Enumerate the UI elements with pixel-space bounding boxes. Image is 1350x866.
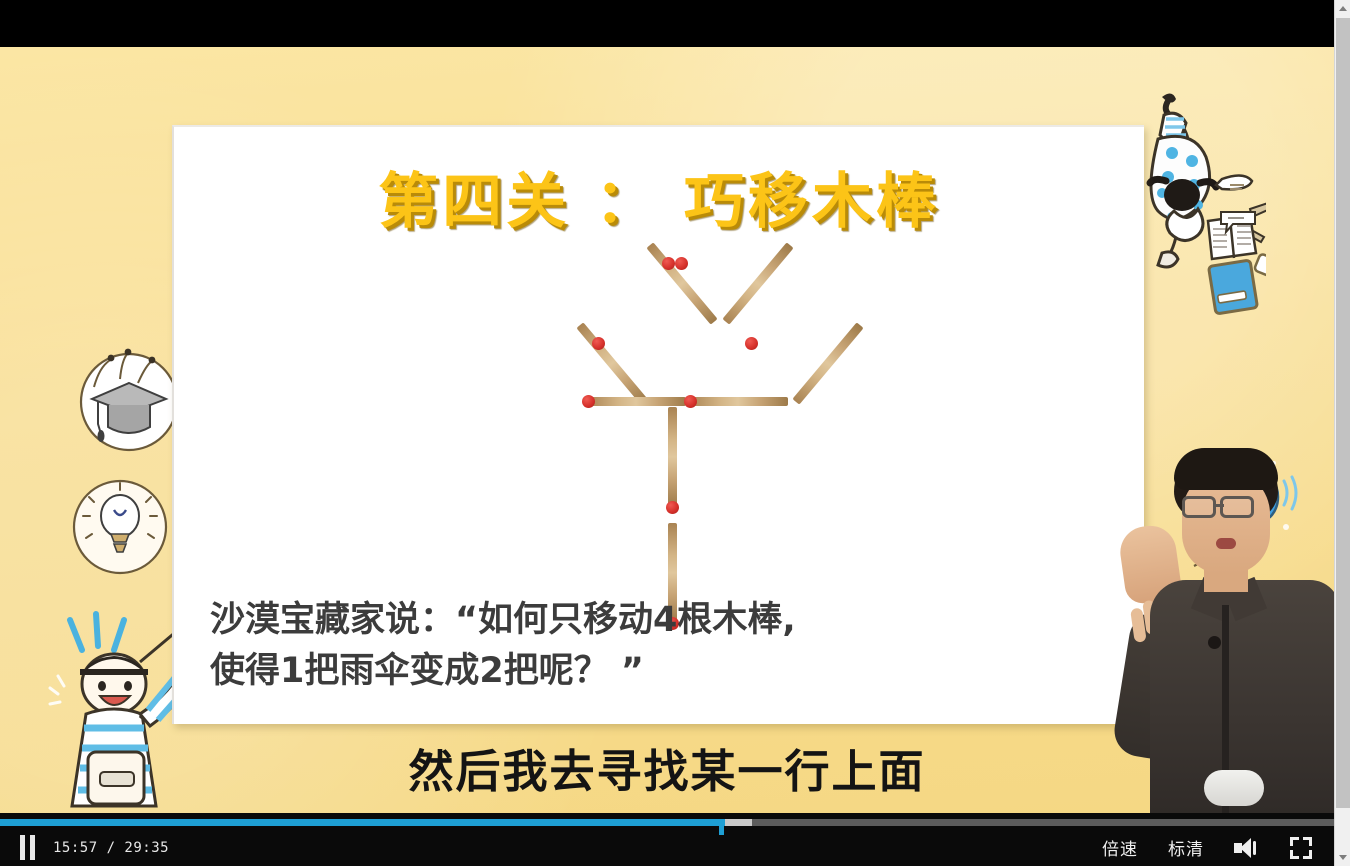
- matchstick-head-handle-upper: [666, 501, 679, 514]
- matchstick-handle-upper: [668, 407, 677, 507]
- lightbulb-doodle: [66, 472, 174, 582]
- progress-bar-played: [0, 819, 725, 826]
- slide-body-text: 沙漠宝藏家说：“如何只移动4根木棒, 使得1把雨伞变成2把呢？ ”: [210, 595, 1124, 697]
- pause-icon[interactable]: [20, 835, 35, 860]
- matchstick-umbrella-figure: [174, 255, 1144, 595]
- matchstick-lower-right: [792, 322, 863, 404]
- player-controls-right: 倍速 标清: [1102, 835, 1312, 860]
- presenter-figure: [1104, 440, 1334, 813]
- handstand-student-doodle: [1146, 87, 1266, 317]
- slide-body-line-1: 沙漠宝藏家说：“如何只移动4根木棒,: [210, 595, 1124, 646]
- presenter-lapel-mic: [1208, 636, 1221, 649]
- player-controls-left: 15:57 / 29:35: [20, 835, 169, 860]
- matchstick-apex-right: [722, 242, 793, 324]
- video-player-page: 第四关 ： 巧移木棒: [0, 0, 1350, 866]
- progress-bar-track[interactable]: [0, 819, 1334, 826]
- quality-button[interactable]: 标清: [1168, 835, 1204, 860]
- matchstick-crossbar-right: [688, 397, 788, 406]
- presenter-glasses-right: [1220, 496, 1254, 518]
- scrollbar-thumb[interactable]: [1336, 18, 1350, 808]
- scroll-down-arrow-icon[interactable]: [1335, 849, 1350, 866]
- speech-bubble-doodle: [1218, 209, 1258, 235]
- scroll-up-arrow-icon[interactable]: [1335, 0, 1350, 17]
- progress-bar-handle[interactable]: [719, 822, 724, 835]
- matchstick-head-crossbar-left: [582, 395, 595, 408]
- slide-body-line-2: 使得1把雨伞变成2把呢？ ”: [210, 646, 1124, 697]
- time-display: 15:57 / 29:35: [53, 840, 169, 856]
- video-stage[interactable]: 第四关 ： 巧移木棒: [0, 47, 1334, 813]
- presenter-mouth: [1216, 538, 1236, 549]
- presenter-glasses-bridge: [1216, 504, 1224, 507]
- fullscreen-icon[interactable]: [1290, 837, 1312, 859]
- matchstick-head-apex-left: [662, 257, 675, 270]
- top-letterbox: [0, 0, 1334, 47]
- matchstick-head-lower-left: [592, 337, 605, 350]
- slide-title: 第四关 ： 巧移木棒: [174, 153, 1144, 240]
- matchstick-head-lower-right: [745, 337, 758, 350]
- playback-speed-button[interactable]: 倍速: [1102, 835, 1138, 860]
- page-scrollbar[interactable]: [1334, 0, 1350, 866]
- matchstick-lower-left: [576, 322, 647, 404]
- presenter-glasses-left: [1182, 496, 1216, 518]
- volume-icon[interactable]: [1234, 837, 1260, 859]
- presenter-lower-hand: [1204, 770, 1264, 806]
- matchstick-head-apex-right: [675, 257, 688, 270]
- matchstick-head-crossbar-right: [684, 395, 697, 408]
- graduation-cap-doodle: [74, 347, 184, 457]
- matchstick-apex-left: [646, 242, 717, 324]
- presenter-hair-front: [1174, 448, 1278, 490]
- matchstick-crossbar-left: [586, 397, 686, 406]
- slide-whiteboard[interactable]: 第四关 ： 巧移木棒: [172, 125, 1144, 724]
- player-control-bar[interactable]: 15:57 / 29:35 倍速 标清: [0, 813, 1334, 866]
